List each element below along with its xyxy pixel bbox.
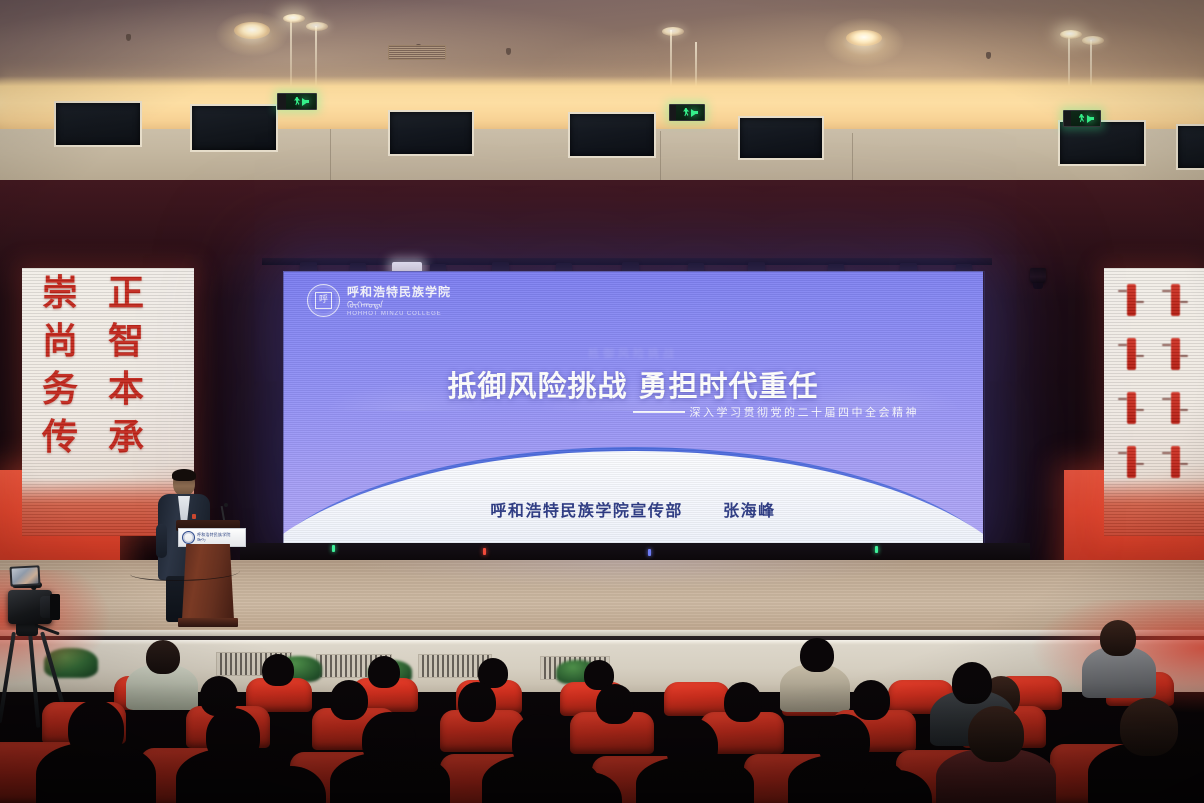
arrow-right-icon	[302, 98, 308, 106]
mongolian-column-a	[1118, 284, 1144, 478]
motto-char: 务	[42, 372, 78, 408]
logo-name-cn: 呼和浩特民族学院	[347, 283, 451, 300]
podium-body	[182, 544, 234, 620]
audience-head	[362, 712, 416, 768]
audience-head	[146, 640, 180, 674]
exit-sign-panel	[676, 105, 704, 120]
audience-head	[666, 718, 718, 772]
slide-watermark-text: 抵御风险挑战	[283, 345, 983, 361]
sprinkler-icon	[986, 52, 991, 59]
led-screen: 呼 呼和浩特民族学院 ᠬᠥᠬᠡᠬᠣᠲᠠ HOHHOT MINZU COLLEGE…	[283, 271, 983, 543]
mongolian-glyph	[1127, 392, 1136, 424]
pendant-lamp-icon	[662, 27, 684, 36]
audience-head	[206, 708, 260, 764]
motto-char: 智	[108, 324, 144, 360]
mongolian-glyph	[1171, 392, 1180, 424]
motto-char: 尚	[42, 324, 78, 360]
slide-credit: 呼和浩特民族学院宣传部 张海峰	[283, 497, 983, 521]
wall-seam	[660, 131, 661, 187]
exit-sign	[1063, 110, 1101, 127]
exit-sign	[669, 104, 705, 121]
video-camera-rig	[0, 562, 62, 722]
motto-char: 本	[108, 372, 144, 408]
wall-panel	[190, 104, 278, 152]
wall-panel	[738, 116, 824, 160]
arrow-right-icon	[1087, 115, 1093, 123]
exit-sign-housing	[278, 94, 286, 109]
exit-sign-housing	[1064, 111, 1071, 126]
microphone-icon	[224, 503, 228, 507]
presentation-slide: 呼 呼和浩特民族学院 ᠬᠥᠬᠡᠬᠣᠲᠠ HOHHOT MINZU COLLEGE…	[283, 271, 983, 543]
wall-seam	[330, 129, 331, 185]
speaker-lapel-badge	[192, 514, 196, 519]
mongolian-glyph	[1171, 284, 1180, 316]
mongolian-glyph	[1127, 446, 1136, 478]
mongolian-glyph	[1171, 446, 1180, 478]
motto-char: 正	[108, 276, 144, 312]
tripod-leg	[0, 632, 16, 723]
status-led-blue	[648, 549, 651, 556]
speaker-arm-left	[156, 524, 167, 558]
audience-head	[952, 662, 992, 704]
audience-head	[512, 714, 566, 770]
status-led-green	[875, 546, 878, 553]
downlight-icon	[234, 22, 270, 39]
exit-sign-panel	[286, 94, 316, 109]
slide-title: 抵御风险挑战 勇担时代重任	[283, 363, 983, 405]
audience-head	[262, 654, 294, 686]
led-banner-right	[1104, 268, 1204, 536]
motto-column-a: 崇 尚 务 传	[42, 276, 78, 456]
sprinkler-icon	[506, 48, 511, 55]
slide-subtitle-text: 深入学习贯彻党的二十届四中全会精神	[690, 404, 920, 420]
podium-emblem-icon	[182, 531, 195, 544]
exit-sign-panel	[1071, 111, 1100, 126]
motto-column-b: 正 智 本 承	[108, 276, 144, 456]
mongolian-glyph	[1127, 284, 1136, 316]
stage-light-fixture	[1030, 268, 1046, 284]
status-led-green	[332, 545, 335, 552]
audience-head	[458, 682, 496, 722]
slide-school-logo: 呼 呼和浩特民族学院 ᠬᠥᠬᠡᠬᠣᠲᠠ HOHHOT MINZU COLLEGE	[307, 283, 451, 317]
speaker-hair	[172, 469, 196, 481]
audience-head	[368, 656, 400, 688]
motto-char: 传	[42, 420, 78, 456]
pendant-lamp-icon	[283, 14, 305, 23]
pendant-lamp-icon	[1060, 30, 1082, 39]
seat	[664, 682, 730, 716]
arrow-right-icon	[691, 109, 697, 117]
logo-name-mn: ᠬᠥᠬᠡᠬᠣᠲᠠ	[347, 301, 451, 310]
pendant-lamp-icon	[306, 22, 328, 31]
motto-char: 承	[108, 420, 144, 456]
subtitle-rule	[633, 411, 685, 413]
audience-head	[1120, 698, 1178, 756]
emblem-glyph: 呼	[315, 292, 332, 309]
banner-red-gradient	[1104, 478, 1204, 536]
running-man-icon	[683, 108, 690, 117]
audience-head	[1100, 620, 1136, 656]
running-man-icon	[294, 97, 301, 106]
downlight-icon	[846, 30, 882, 46]
wall-panel	[568, 112, 656, 158]
pendant-lamp-icon	[1082, 36, 1104, 45]
audience-head	[800, 638, 834, 672]
wall-panel	[54, 101, 142, 147]
audience-head	[330, 680, 368, 720]
logo-wordmark: 呼和浩特民族学院 ᠬᠥᠬᠡᠬᠣᠲᠠ HOHHOT MINZU COLLEGE	[347, 283, 451, 317]
audience-head	[68, 700, 124, 758]
podium-base	[178, 618, 238, 627]
running-man-icon	[1079, 114, 1086, 123]
camera-lens-hood	[50, 594, 60, 620]
camera-lcd-screen	[12, 567, 39, 584]
mongolian-glyph	[1127, 338, 1136, 370]
wall-panel	[388, 110, 474, 156]
motto-char: 崇	[42, 276, 78, 312]
school-emblem-icon: 呼	[307, 284, 340, 317]
hvac-vent	[388, 45, 446, 60]
audience-head	[818, 714, 870, 768]
audience-head	[724, 682, 762, 722]
camera-lcd-monitor[interactable]	[9, 565, 40, 587]
exit-sign	[277, 93, 317, 110]
mongolian-column-b	[1162, 284, 1188, 478]
credit-department: 呼和浩特民族学院宣传部	[490, 501, 683, 520]
wall-panel	[1176, 124, 1204, 170]
tripod-leg	[28, 632, 40, 728]
auditorium-scene: 崇 尚 务 传 正 智 本 承	[0, 0, 1204, 803]
credit-speaker: 张海峰	[723, 501, 776, 520]
slide-subtitle: 深入学习贯彻党的二十届四中全会精神	[633, 404, 920, 420]
sprinkler-icon	[126, 34, 131, 41]
audience-head	[596, 684, 634, 724]
tripod-pan-handle[interactable]	[34, 624, 59, 636]
status-led-red	[483, 548, 486, 555]
audience-head	[852, 680, 890, 720]
mongolian-glyph	[1171, 338, 1180, 370]
podium-plate-text: 呼和浩特民族学院 ᠬᠥᠬᠡ	[197, 533, 242, 542]
podium-plate-mn: ᠬᠥᠬᠡ	[197, 538, 242, 542]
logo-name-en: HOHHOT MINZU COLLEGE	[347, 311, 451, 317]
audience-head	[968, 706, 1024, 762]
